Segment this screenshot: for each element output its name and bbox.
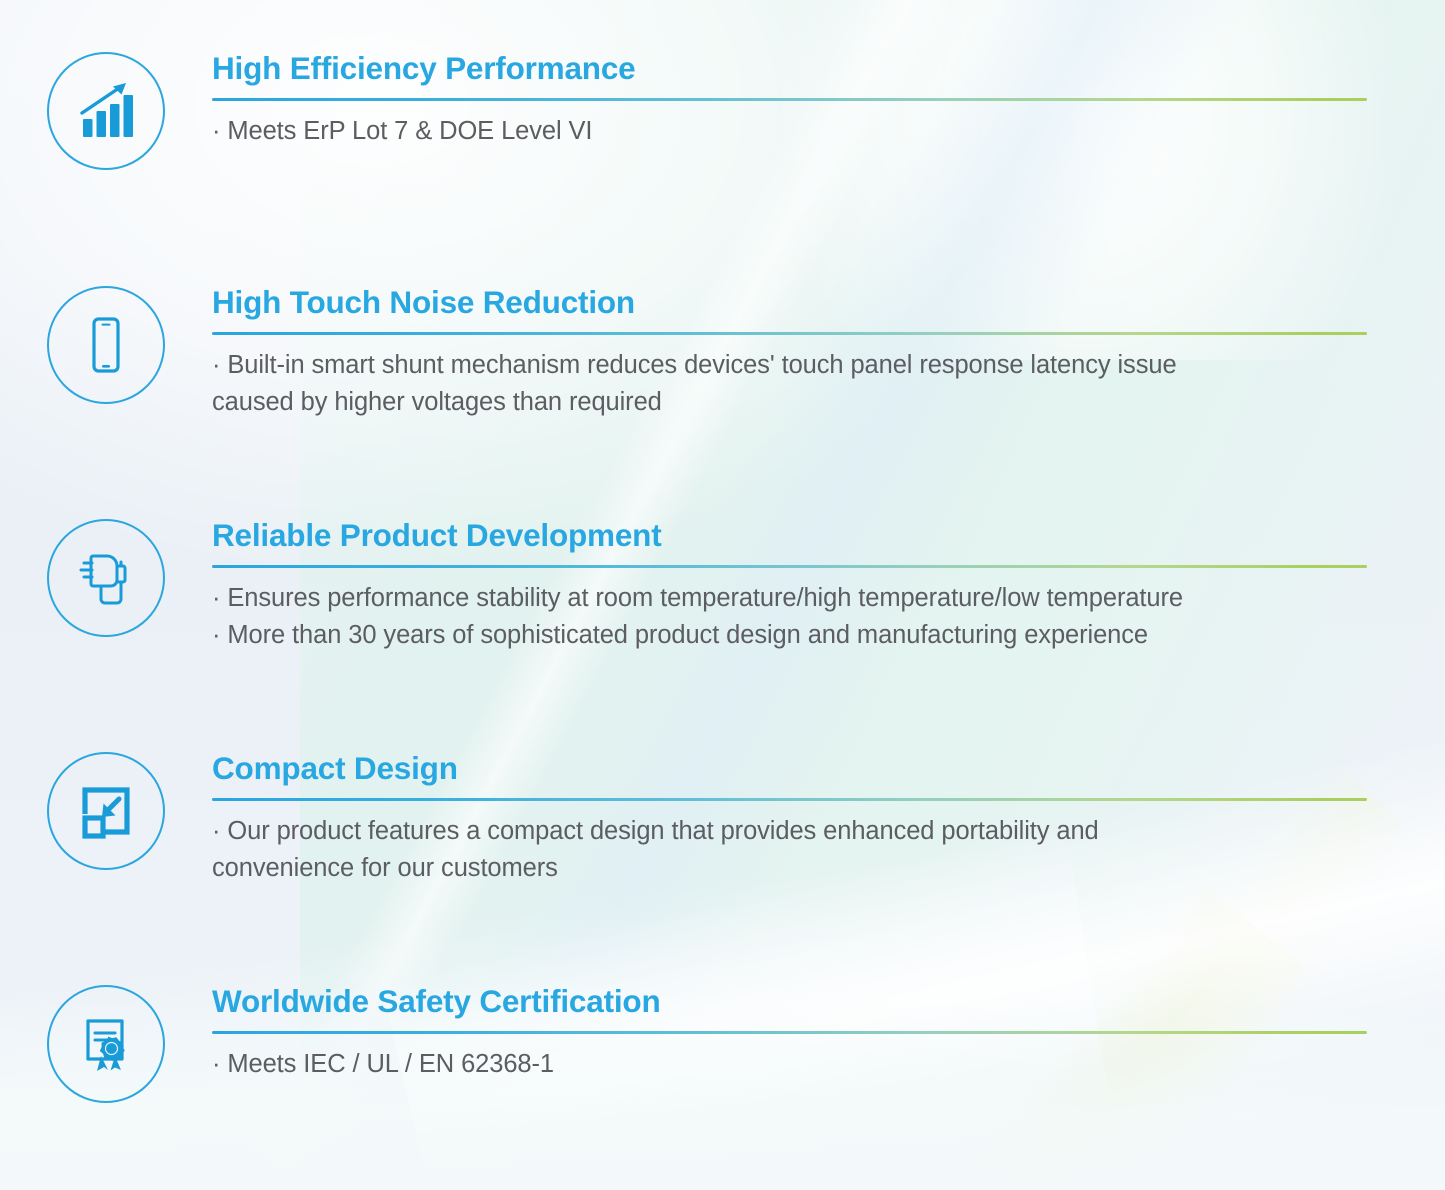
feature-bullet: · More than 30 years of sophisticated pr… [212,617,1367,654]
feature-title: High Touch Noise Reduction [212,286,1367,319]
feature-title: Worldwide Safety Certification [212,985,1367,1018]
feature-icon-cell [0,752,212,870]
feature-bullets: · Built-in smart shunt mechanism reduces… [212,347,1367,420]
certificate-award-icon [47,985,165,1103]
feature-divider [212,332,1367,335]
compact-resize-icon [47,752,165,870]
feature-title: Compact Design [212,752,1367,785]
feature-item-high-efficiency-performance: High Efficiency Performance · Meets ErP … [0,52,1445,170]
feature-text-cell: High Efficiency Performance · Meets ErP … [212,52,1445,150]
feature-text-cell: Worldwide Safety Certification · Meets I… [212,985,1445,1083]
feature-highlights-page: High Efficiency Performance · Meets ErP … [0,0,1445,1190]
feature-divider [212,1031,1367,1034]
feature-item-worldwide-safety-certification: Worldwide Safety Certification · Meets I… [0,985,1445,1103]
feature-divider [212,565,1367,568]
feature-bullet: · Our product features a compact design … [212,813,1367,886]
feature-icon-cell [0,985,212,1103]
feature-bullets: · Our product features a compact design … [212,813,1367,886]
bar-chart-growth-icon [47,52,165,170]
feature-title: High Efficiency Performance [212,52,1367,85]
feature-bullet: · Meets IEC / UL / EN 62368-1 [212,1046,1367,1083]
feature-bullets: · Ensures performance stability at room … [212,580,1367,653]
feature-text-cell: High Touch Noise Reduction · Built-in sm… [212,286,1445,421]
feature-bullets: · Meets IEC / UL / EN 62368-1 [212,1046,1367,1083]
feature-bullet: · Ensures performance stability at room … [212,580,1367,617]
feature-item-compact-design: Compact Design · Our product features a … [0,752,1445,887]
power-adapter-plug-icon [47,519,165,637]
feature-icon-cell [0,519,212,637]
feature-item-high-touch-noise-reduction: High Touch Noise Reduction · Built-in sm… [0,286,1445,421]
feature-divider [212,798,1367,801]
feature-bullet: · Built-in smart shunt mechanism reduces… [212,347,1367,420]
feature-bullets: · Meets ErP Lot 7 & DOE Level VI [212,113,1367,150]
feature-item-reliable-product-development: Reliable Product Development · Ensures p… [0,519,1445,654]
smartphone-icon [47,286,165,404]
feature-divider [212,98,1367,101]
feature-text-cell: Reliable Product Development · Ensures p… [212,519,1445,654]
background-streak-bottom [380,643,1445,1190]
feature-icon-cell [0,286,212,404]
feature-icon-cell [0,52,212,170]
feature-bullet: · Meets ErP Lot 7 & DOE Level VI [212,113,1367,150]
feature-text-cell: Compact Design · Our product features a … [212,752,1445,887]
feature-title: Reliable Product Development [212,519,1367,552]
